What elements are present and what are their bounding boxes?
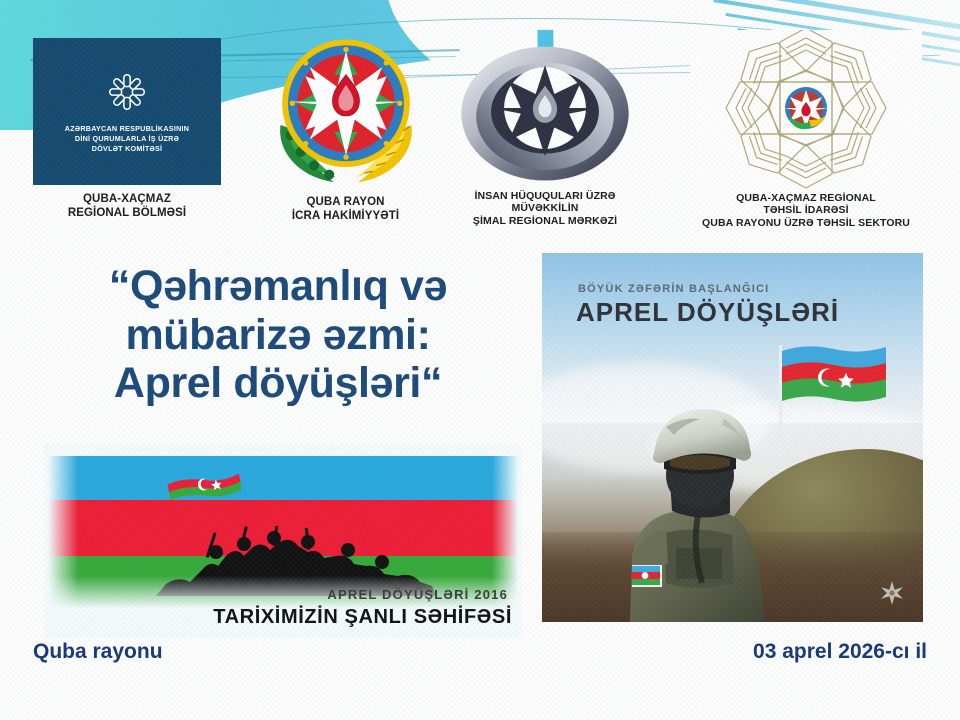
committee-emblem-icon [104,69,150,115]
ombudsman-emblem-icon [452,28,638,188]
committee-logo-box: AZƏRBAYCAN RESPUBLİKASININ DİNİ QURUMLAR… [33,38,221,185]
image-aprel-doyusleri-poster: BÖYÜK ZƏFƏRİN BAŞLANĞICI APREL DÖYÜŞLƏRİ [542,253,923,622]
poster-soldier-figure [606,383,806,622]
azerbaijan-state-emblem-icon [262,26,430,194]
logo-caption-icra-hakimiyyeti: QUBA RAYON İCRA HAKİMİYYƏTİ [258,196,433,223]
left-image-caption-bottom: TARİXİMİZİN ŞANLI SƏHİFƏSİ [44,606,512,629]
committee-logo-text: AZƏRBAYCAN RESPUBLİKASININ DİNİ QURUMLAR… [65,124,189,155]
education-logo-box [690,30,922,190]
logo-caption-tehsil-idaresi: QUBA-XAÇMAZ REGİONAL TƏHSİL İDARƏSİ QUBA… [690,192,922,229]
logo-quba-rayon-icra-hakimiyyeti: QUBA RAYON İCRA HAKİMİYYƏTİ [258,26,433,223]
logo-quba-xacmaz-tehsil-idaresi: QUBA-XAÇMAZ REGİONAL TƏHSİL İDARƏSİ QUBA… [690,30,922,229]
poster-corner-badge-icon [879,580,905,606]
education-rosette-icon [690,30,922,190]
logo-caption-insan-huquqlari: İNSAN HÜQUQULARI ÜZRƏ MÜVƏKKİLİN ŞİMAL R… [452,190,638,227]
footer-place: Quba rayonu [33,640,163,664]
logos-row: AZƏRBAYCAN RESPUBLİKASININ DİNİ QURUMLAR… [0,0,960,250]
flag-brush-edge-top [44,444,522,456]
slide-title: “Qəhrəmanlıq və mübarizə əzmi: Aprel döy… [28,262,528,408]
footer-date: 03 aprel 2026-cı il [753,640,927,664]
logo-insan-huquqlari-muvekkili: İNSAN HÜQUQULARI ÜZRƏ MÜVƏKKİLİN ŞİMAL R… [452,28,638,227]
azerbaijan-flag-illustration [162,466,246,500]
poster-caption-main: APREL DÖYÜŞLƏRİ [576,297,839,328]
poster-caption-top: BÖYÜK ZƏFƏRİN BAŞLANĞICI [578,283,769,295]
logo-caption-dini-qurumlar: QUBA-XAÇMAZ REGİONAL BÖLMƏSİ [33,193,221,220]
logo-dini-qurumlar-komitesi: AZƏRBAYCAN RESPUBLİKASININ DİNİ QURUMLAR… [33,38,221,220]
presentation-slide: AZƏRBAYCAN RESPUBLİKASININ DİNİ QURUMLAR… [0,0,960,720]
image-aprel-doyusleri-2016: APREL DÖYÜŞLƏRİ 2016 TARİXİMİZİN ŞANLI S… [44,444,522,638]
left-image-caption-top: APREL DÖYÜŞLƏRİ 2016 [44,587,508,602]
